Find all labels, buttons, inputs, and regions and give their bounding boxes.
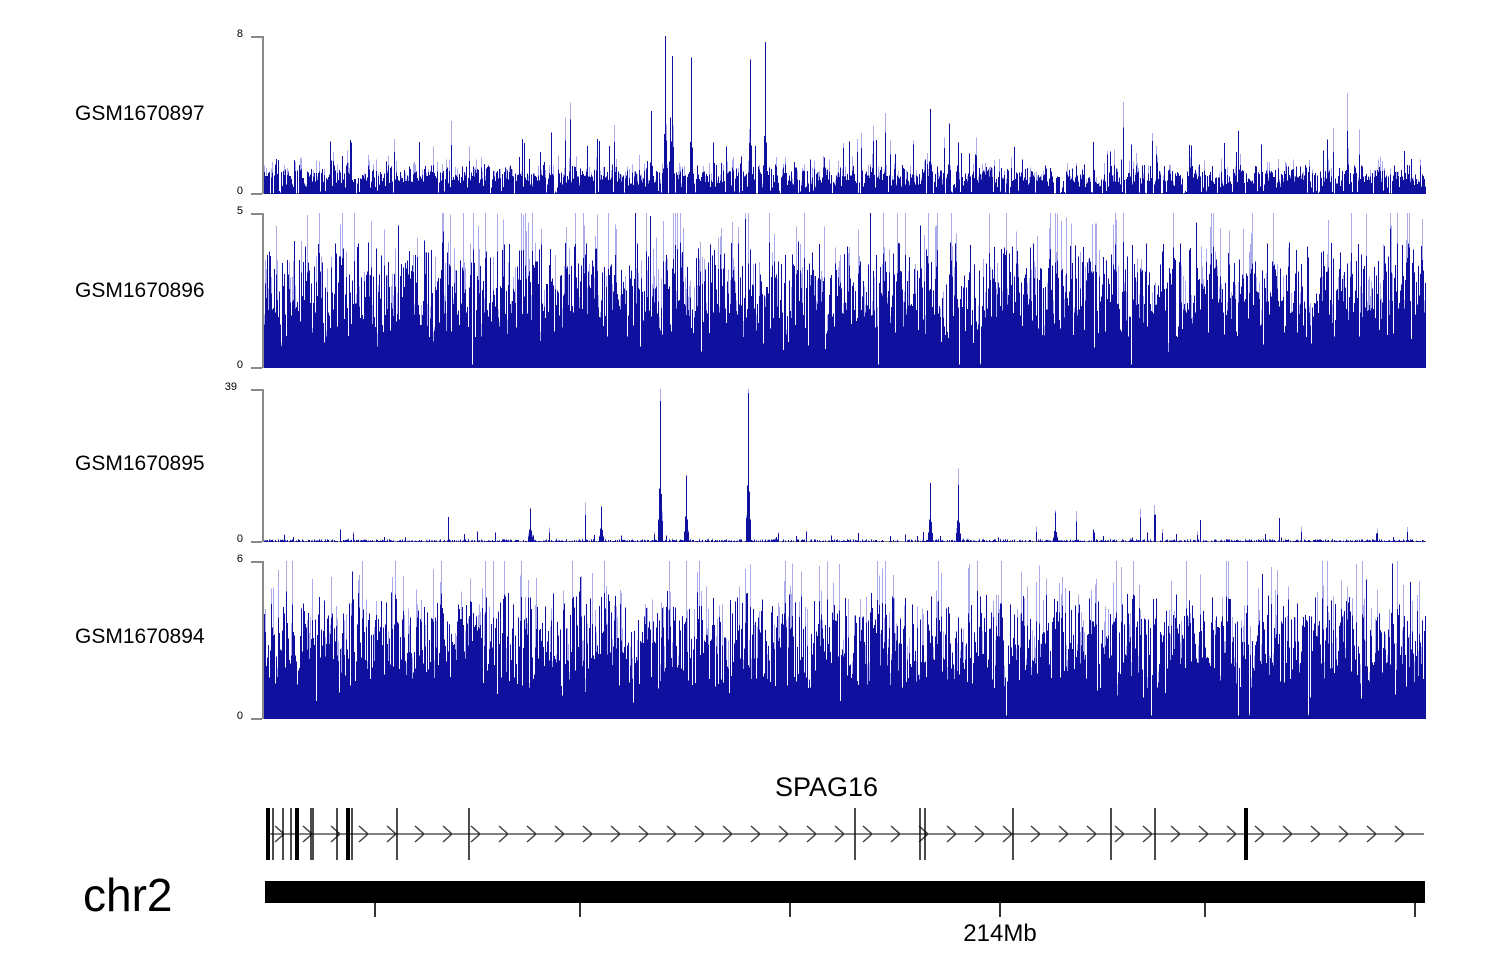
track-1-tick-top [251,36,262,38]
track-label-3: GSM1670895 [75,452,205,476]
chromosome-ideogram-bar[interactable] [265,881,1425,903]
chromosome-label: chr2 [83,868,172,922]
track-3-tick-top [251,389,262,391]
track-4-signal-plot [264,561,1426,719]
track-label-4: GSM1670894 [75,625,205,649]
track-2-axis-max: 5 [203,205,243,217]
track-3-axis-min: 0 [203,533,243,545]
track-2-signal-plot [264,213,1426,368]
track-3-tick-bottom [251,541,262,543]
track-label-1: GSM1670897 [75,102,205,126]
track-label-2: GSM1670896 [75,279,205,303]
track-4-tick-top [251,561,262,563]
track-4-axis-max: 6 [203,553,243,565]
track-2-tick-top [251,213,262,215]
track-2-axis-min: 0 [203,359,243,371]
genome-browser-view: GSM1670897 8 0 GSM1670896 5 0 GSM1670895… [0,0,1500,980]
track-3-signal-plot [264,389,1426,542]
track-2-tick-bottom [251,367,262,369]
genomic-ruler-ticks [260,903,1440,923]
gene-model-track[interactable] [260,806,1435,862]
track-4-tick-bottom [251,718,262,720]
scale-position-label: 214Mb [900,920,1100,948]
track-1-axis-max: 8 [203,28,243,40]
track-1-axis-min: 0 [203,185,243,197]
track-1-signal-plot [264,36,1426,194]
track-4-axis-min: 0 [203,710,243,722]
track-3-axis-max: 39 [197,381,237,393]
gene-name-label: SPAG16 [775,772,878,803]
track-1-tick-bottom [251,193,262,195]
